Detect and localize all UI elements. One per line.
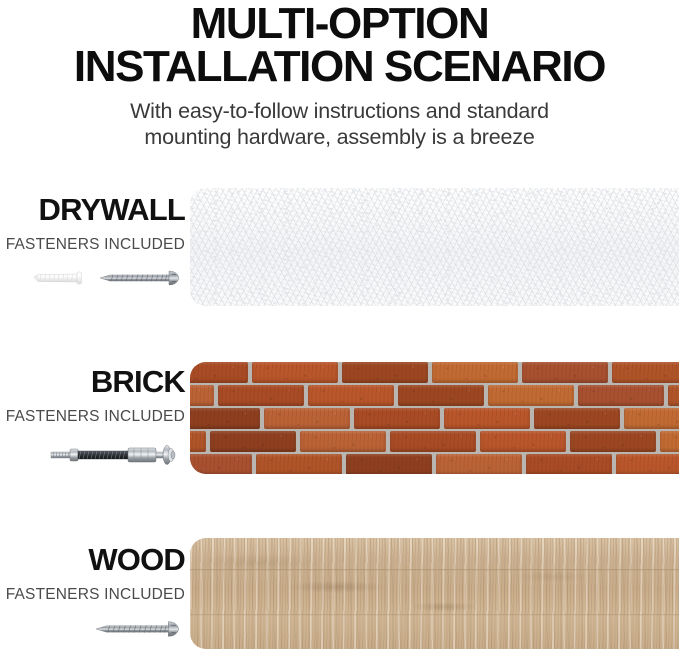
brick-course <box>190 431 679 452</box>
brick-unit <box>534 408 620 429</box>
material-label-wood: WOOD <box>0 544 185 575</box>
wood-grain-seam <box>190 569 679 571</box>
brick-unit <box>256 454 342 474</box>
wood-grain-seam <box>190 614 679 616</box>
fasteners-included-drywall: FASTENERS INCLUDED <box>0 236 185 254</box>
subtitle-line-2: mounting hardware, assembly is a breeze <box>0 124 679 150</box>
subtitle: With easy-to-follow instructions and sta… <box>0 98 679 150</box>
brick-unit <box>570 431 656 452</box>
brick-unit <box>190 362 248 383</box>
wood-screw-icon <box>95 618 183 640</box>
brick-unit <box>210 431 296 452</box>
drywall-hardware-row <box>0 268 185 288</box>
drywall-label-column: DRYWALL FASTENERS INCLUDED <box>0 188 185 288</box>
sleeve-anchor-icon <box>48 440 183 470</box>
brick-unit <box>346 454 432 474</box>
page-title-line-1: MULTI-OPTION <box>0 2 679 45</box>
brick-unit <box>190 385 214 406</box>
brick-unit <box>264 408 350 429</box>
brick-unit <box>624 408 679 429</box>
brick-course <box>190 385 679 406</box>
brick-unit <box>190 454 252 474</box>
section-drywall: DRYWALL FASTENERS INCLUDED <box>0 188 679 306</box>
brick-unit <box>578 385 664 406</box>
brick-unit <box>190 408 260 429</box>
wood-label-column: WOOD FASTENERS INCLUDED <box>0 538 185 640</box>
drywall-anchor-icon <box>29 268 89 288</box>
brick-unit <box>660 431 679 452</box>
brick-unit <box>398 385 484 406</box>
header: MULTI-OPTION INSTALLATION SCENARIO With … <box>0 0 679 151</box>
brick-unit <box>668 385 679 406</box>
fasteners-included-wood: FASTENERS INCLUDED <box>0 586 185 604</box>
section-brick: BRICK FASTENERS INCLUDED <box>0 362 679 474</box>
brick-unit <box>190 431 206 452</box>
brick-unit <box>252 362 338 383</box>
subtitle-line-1: With easy-to-follow instructions and sta… <box>0 98 679 124</box>
brick-course <box>190 454 679 474</box>
brick-course <box>190 408 679 429</box>
brick-unit <box>616 454 679 474</box>
drywall-swatch <box>190 188 679 306</box>
brick-unit <box>342 362 428 383</box>
brick-unit <box>444 408 530 429</box>
brick-unit <box>432 362 518 383</box>
screw-icon <box>99 268 183 288</box>
fasteners-included-brick: FASTENERS INCLUDED <box>0 408 185 426</box>
brick-unit <box>612 362 679 383</box>
brick-unit <box>488 385 574 406</box>
wood-swatch <box>190 538 679 649</box>
brick-unit <box>480 431 566 452</box>
wood-hardware-row <box>0 618 185 640</box>
brick-unit <box>436 454 522 474</box>
brick-swatch <box>190 362 679 474</box>
page-title-line-2: INSTALLATION SCENARIO <box>0 45 679 88</box>
brick-hardware-row <box>0 440 185 470</box>
brick-unit <box>354 408 440 429</box>
material-label-drywall: DRYWALL <box>0 194 185 225</box>
section-wood: WOOD FASTENERS INCLUDED <box>0 538 679 649</box>
brick-unit <box>300 431 386 452</box>
brick-unit <box>522 362 608 383</box>
brick-course <box>190 362 679 383</box>
brick-unit <box>218 385 304 406</box>
material-label-brick: BRICK <box>0 366 185 397</box>
brick-unit <box>390 431 476 452</box>
brick-unit <box>308 385 394 406</box>
brick-unit <box>526 454 612 474</box>
brick-label-column: BRICK FASTENERS INCLUDED <box>0 362 185 470</box>
